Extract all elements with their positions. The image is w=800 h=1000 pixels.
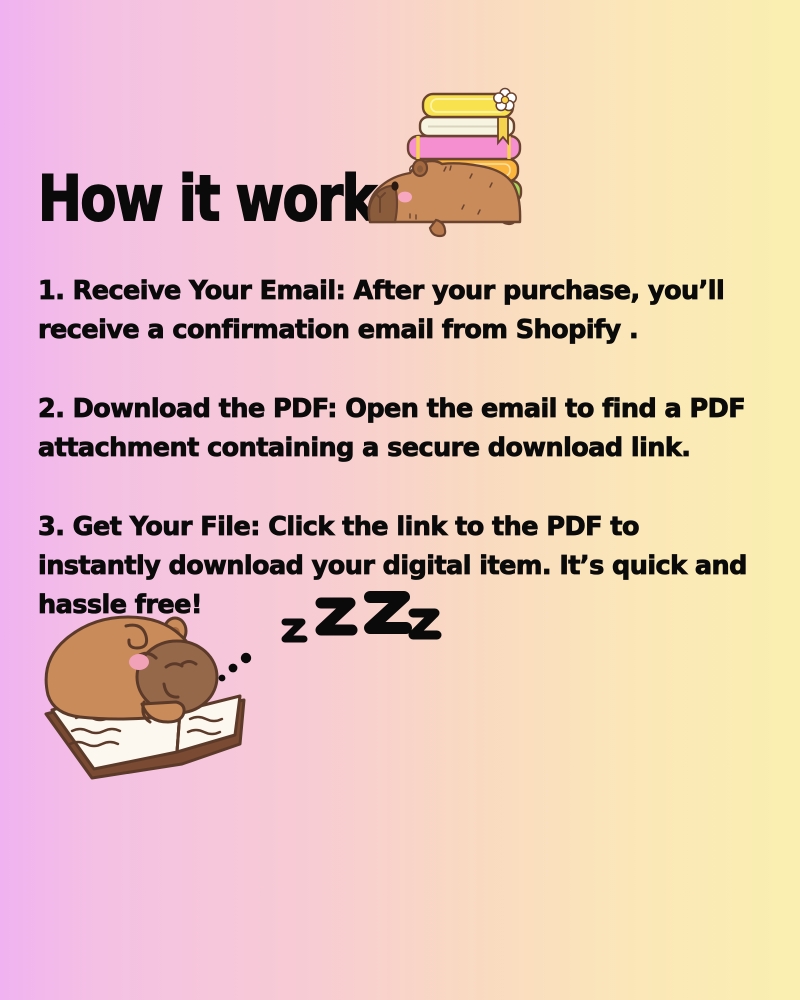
capybara-body	[369, 160, 520, 236]
poster-page: How it works	[0, 0, 800, 1000]
capybara-sleeping-illustration	[32, 592, 432, 792]
capybara-cheek	[398, 192, 412, 203]
step-item-1: 1. Receive Your Email: After your purcha…	[38, 272, 764, 350]
sleep-letter-z-3	[370, 597, 406, 628]
sleep-letter-z-1	[285, 622, 304, 639]
page-title: How it works	[38, 168, 405, 231]
capybara-sleeping-body	[46, 617, 217, 722]
flower-icon-upper	[494, 89, 516, 111]
capybara-with-books-illustration	[358, 58, 543, 238]
capybara-sleeping-cheek	[129, 654, 149, 670]
book-third-pink	[408, 136, 520, 159]
capybara-eye	[391, 181, 398, 190]
steps-list: 1. Receive Your Email: After your purcha…	[38, 272, 764, 625]
capybara-ear	[413, 160, 427, 176]
sleep-dots	[219, 653, 252, 682]
step-item-2: 2. Download the PDF: Open the email to f…	[38, 390, 764, 468]
sleep-letter-z-2	[321, 603, 352, 630]
